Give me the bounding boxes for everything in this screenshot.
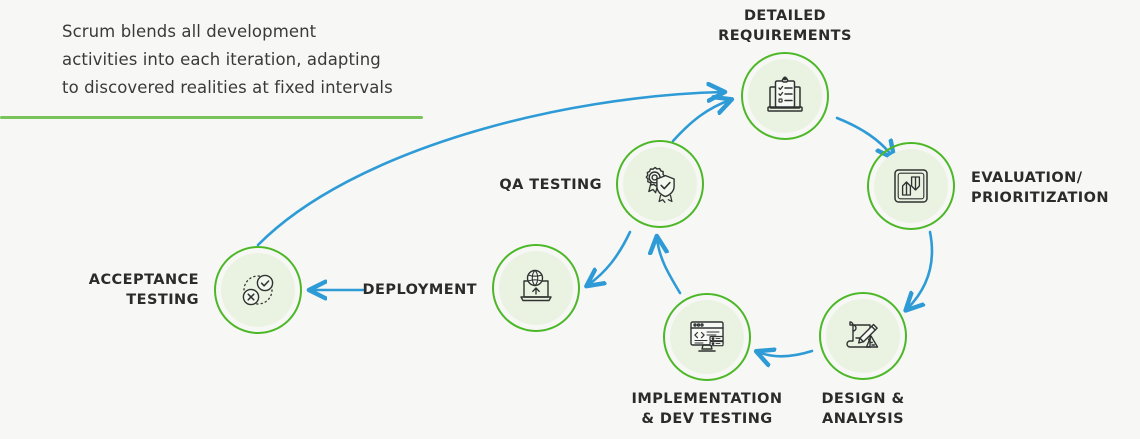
arrow-evaluation-to-design [907, 232, 932, 309]
node-qa-testing[interactable] [616, 140, 704, 228]
caption-line-2: activities into each iteration, adapting [62, 46, 434, 74]
blueprint-pencil-ruler-icon [819, 292, 907, 380]
caption-line-1: Scrum blends all development [62, 18, 434, 46]
node-implementation-dev-testing[interactable] [663, 293, 751, 381]
label-qa-testing: QA TESTING [422, 175, 602, 195]
up-down-arrows-icon [867, 142, 955, 230]
caption-divider-rule [0, 116, 423, 119]
check-cross-circles-icon [214, 246, 302, 334]
node-acceptance-testing[interactable] [214, 246, 302, 334]
monitor-code-server-icon [663, 293, 751, 381]
caption-line-3: to discovered realities at fixed interva… [62, 74, 434, 102]
laptop-globe-upload-icon [492, 244, 580, 332]
clipboard-checklist-icon [741, 52, 829, 140]
label-detailed-requirements: DETAILED REQUIREMENTS [645, 6, 925, 46]
gear-shield-check-icon [616, 140, 704, 228]
label-acceptance-testing: ACCEPTANCE TESTING [19, 270, 199, 310]
label-evaluation-prioritization: EVALUATION/ PRIORITIZATION [971, 168, 1140, 208]
node-evaluation-prioritization[interactable] [867, 142, 955, 230]
node-deployment[interactable] [492, 244, 580, 332]
node-design-analysis[interactable] [819, 292, 907, 380]
arrow-design-to-implementation [758, 351, 812, 356]
arrow-qa-to-deployment [588, 232, 630, 285]
diagram-canvas: Scrum blends all development activities … [0, 0, 1140, 439]
arrow-qa-to-detailed-requirements [673, 100, 730, 141]
node-detailed-requirements[interactable] [741, 52, 829, 140]
arrow-implementation-to-qa [657, 238, 680, 293]
label-deployment: DEPLOYMENT [297, 280, 477, 300]
label-implementation-dev-testing: IMPLEMENTATION & DEV TESTING [597, 389, 817, 429]
caption-text: Scrum blends all development activities … [62, 18, 434, 102]
